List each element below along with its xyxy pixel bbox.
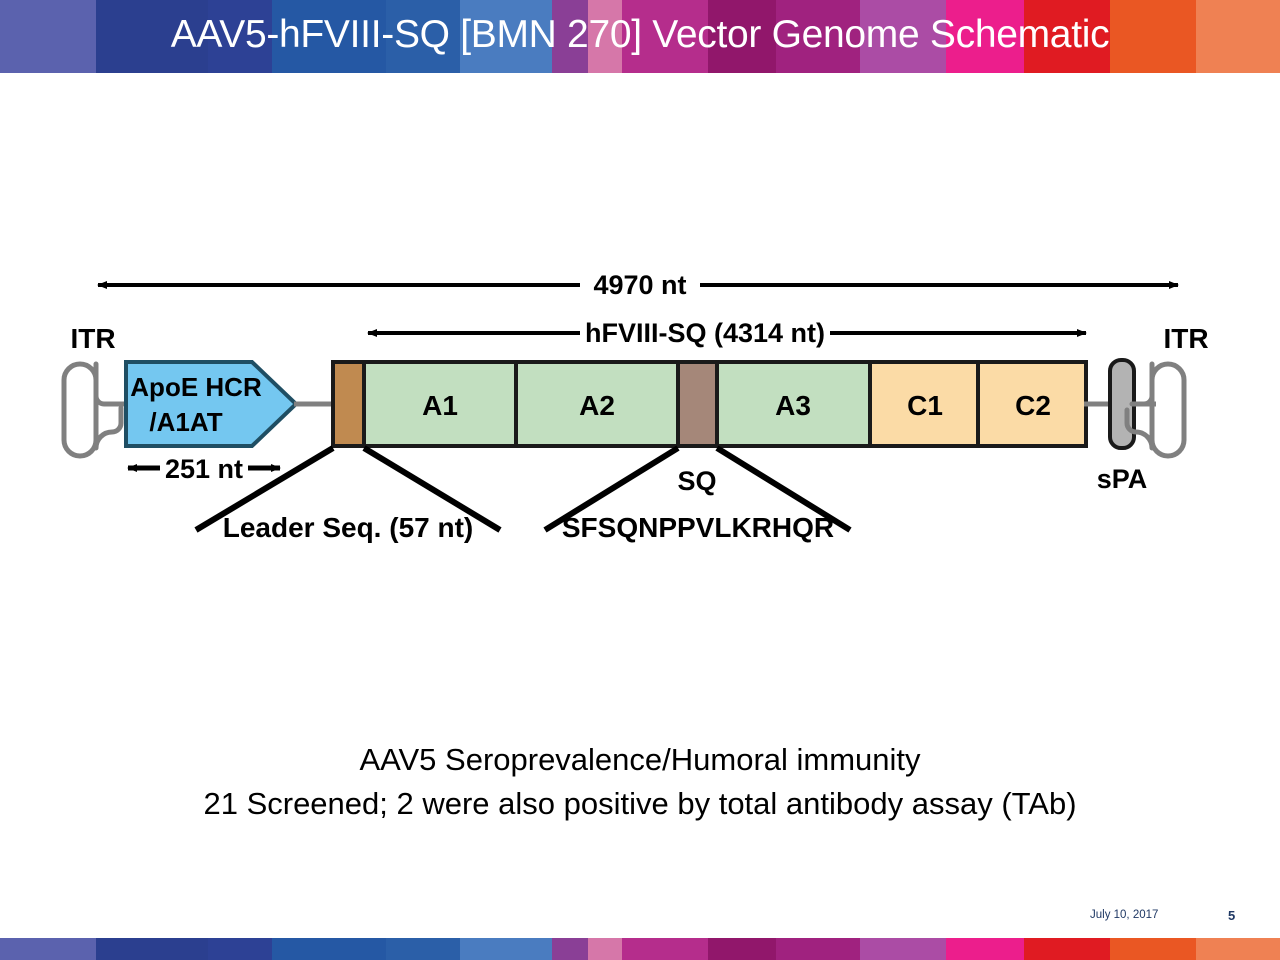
body-text-block: AAV5 Seroprevalence/Humoral immunity 21 … bbox=[0, 738, 1280, 826]
itr-right-label: ITR bbox=[1163, 323, 1208, 354]
body-line-2: 21 Screened; 2 were also positive by tot… bbox=[0, 782, 1280, 826]
callout-sq-sequence-label: SFSQNPPVLKRHQR bbox=[562, 512, 834, 543]
footer-band-segment-12 bbox=[946, 938, 1024, 960]
total-length-label: 4970 nt bbox=[593, 270, 686, 300]
callout-sq: SQ SFSQNPPVLKRHQR bbox=[545, 448, 850, 543]
footer-band-segment-15 bbox=[1196, 938, 1280, 960]
gene-block-c1-label: C1 bbox=[907, 390, 943, 421]
footer-band-segment-5 bbox=[460, 938, 552, 960]
total-length-measure: 4970 nt bbox=[98, 270, 1178, 300]
footer-band-segment-0 bbox=[0, 938, 96, 960]
footer-band-segment-13 bbox=[1024, 938, 1110, 960]
spa-block: sPA bbox=[1097, 360, 1148, 494]
gene-block-c2-label: C2 bbox=[1015, 390, 1051, 421]
footer-slide-number: 5 bbox=[1228, 908, 1235, 923]
genome-schematic-diagram: 4970 nt hFVIII-SQ (4314 nt) ITR ITR ApoE… bbox=[0, 240, 1280, 570]
footer-band-segment-1 bbox=[96, 938, 208, 960]
promoter-length-label: 251 nt bbox=[165, 454, 243, 484]
footer-band-segment-9 bbox=[708, 938, 776, 960]
page-title: AAV5-hFVIII-SQ [BMN 270] Vector Genome S… bbox=[0, 0, 1280, 73]
footer-band-segment-11 bbox=[860, 938, 946, 960]
gene-block-group: A1 A2 A3 C1 C2 bbox=[333, 362, 1086, 446]
transgene-length-measure: hFVIII-SQ (4314 nt) bbox=[368, 318, 1086, 348]
footer-band-segment-2 bbox=[208, 938, 272, 960]
footer-band-segment-7 bbox=[588, 938, 622, 960]
gene-block-sq bbox=[678, 362, 717, 446]
promoter-length-measure: 251 nt bbox=[128, 454, 280, 484]
itr-left-hairpin bbox=[64, 364, 126, 456]
footer-band-segment-3 bbox=[272, 938, 386, 960]
body-line-1: AAV5 Seroprevalence/Humoral immunity bbox=[0, 738, 1280, 782]
itr-left-label: ITR bbox=[70, 323, 115, 354]
footer-band-segment-8 bbox=[622, 938, 708, 960]
footer-band-segment-14 bbox=[1110, 938, 1196, 960]
promoter-block-apoe-hcr-a1at: ApoE HCR /A1AT bbox=[126, 362, 296, 446]
callout-leader-label: Leader Seq. (57 nt) bbox=[223, 512, 474, 543]
transgene-length-label: hFVIII-SQ (4314 nt) bbox=[585, 318, 825, 348]
gene-block-leader bbox=[333, 362, 364, 446]
footer-band-segment-4 bbox=[386, 938, 460, 960]
gene-block-a2-label: A2 bbox=[579, 390, 615, 421]
promoter-label-line2: /A1AT bbox=[149, 407, 222, 437]
footer-date: July 10, 2017 bbox=[1090, 909, 1158, 921]
footer-color-band bbox=[0, 938, 1280, 960]
gene-block-a1-label: A1 bbox=[422, 390, 458, 421]
gene-block-a3-label: A3 bbox=[775, 390, 811, 421]
spa-label: sPA bbox=[1097, 464, 1148, 494]
footer-band-segment-10 bbox=[776, 938, 860, 960]
footer-band-segment-6 bbox=[552, 938, 588, 960]
callout-sq-label: SQ bbox=[677, 466, 716, 496]
promoter-label-line1: ApoE HCR bbox=[130, 372, 262, 402]
